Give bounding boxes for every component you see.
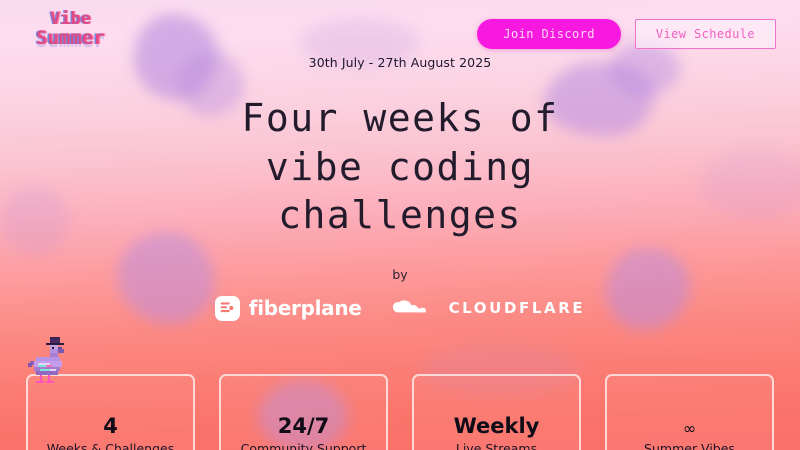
logo-line-summer: Summer bbox=[36, 29, 105, 48]
stat-label: Summer Vibes bbox=[644, 441, 735, 450]
stats-row: 4 Weeks & Challenges 24/7 Community Supp… bbox=[26, 374, 774, 450]
page-background: Vibe Summer Join Discord View Schedule 3… bbox=[0, 0, 800, 450]
site-header: Vibe Summer Join Discord View Schedule bbox=[0, 0, 800, 62]
cloudflare-wordmark: CLOUDFLARE bbox=[449, 299, 586, 317]
view-schedule-button[interactable]: View Schedule bbox=[635, 19, 776, 49]
page-title: Four weeks of vibe coding challenges bbox=[0, 94, 800, 240]
sponsor-row: fiberplane CLOUDFLARE bbox=[0, 296, 800, 321]
stat-card-weeks: 4 Weeks & Challenges bbox=[26, 374, 195, 450]
fiberplane-wordmark: fiberplane bbox=[249, 296, 362, 320]
stat-label: Community Support bbox=[241, 441, 367, 450]
by-label: by bbox=[0, 267, 800, 282]
site-logo[interactable]: Vibe Summer bbox=[36, 11, 105, 48]
stat-card-streams: Weekly Live Streams bbox=[412, 374, 581, 450]
stat-card-support: 24/7 Community Support bbox=[219, 374, 388, 450]
fiberplane-logo-icon bbox=[215, 296, 240, 321]
headline-line-2: vibe coding bbox=[0, 143, 800, 192]
stat-label: Weeks & Challenges bbox=[47, 441, 174, 450]
stat-value: 4 bbox=[103, 414, 118, 438]
logo-line-vibe: Vibe bbox=[50, 11, 105, 28]
stat-value: ∞ bbox=[683, 420, 696, 438]
cloudflare-cloud-icon bbox=[392, 297, 440, 319]
stat-value: 24/7 bbox=[278, 414, 330, 438]
sponsor-cloudflare[interactable]: CLOUDFLARE bbox=[392, 297, 586, 319]
headline-line-3: challenges bbox=[0, 191, 800, 240]
stat-label: Live Streams bbox=[456, 441, 537, 450]
headline-line-1: Four weeks of bbox=[0, 94, 800, 143]
header-actions: Join Discord View Schedule bbox=[477, 19, 776, 49]
join-discord-button[interactable]: Join Discord bbox=[477, 19, 621, 49]
stat-card-vibes: ∞ Summer Vibes bbox=[605, 374, 774, 450]
stat-value: Weekly bbox=[454, 414, 540, 438]
pixel-dodo-bird-icon bbox=[28, 337, 74, 385]
sponsor-fiberplane[interactable]: fiberplane bbox=[215, 296, 362, 321]
